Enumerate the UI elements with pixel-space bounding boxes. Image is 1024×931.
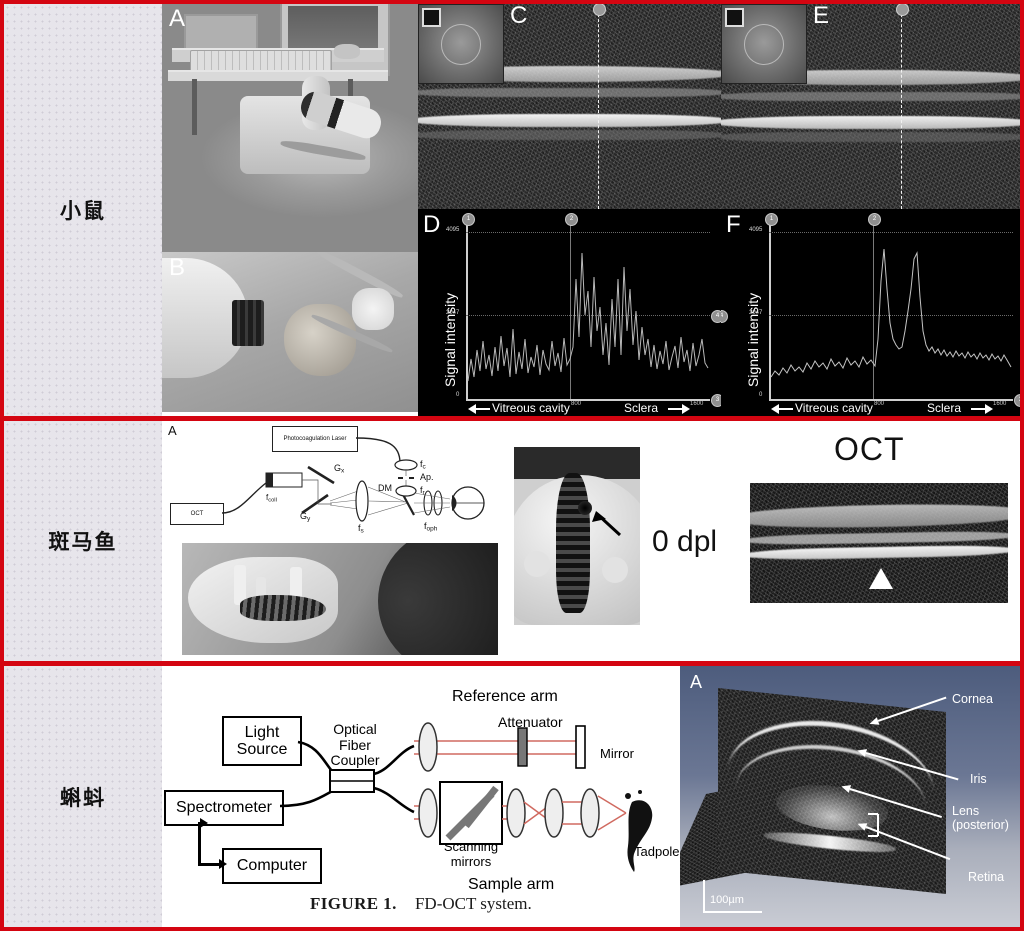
ascan-xtick-f-800: 800 xyxy=(874,401,884,407)
label-fr-sub: r xyxy=(423,490,425,497)
label-gy-sub: y xyxy=(307,516,310,523)
panel-label-d: D xyxy=(423,211,440,239)
optic-disc-ring xyxy=(441,24,482,65)
label-gy: Gy xyxy=(300,511,310,523)
label-fc-sub: c xyxy=(423,464,426,471)
panel-a-tadpole-3d-oct-volume: A xyxy=(680,666,1020,927)
mouse-device xyxy=(334,44,360,59)
annotation-lens: Lens (posterior) xyxy=(952,804,1010,833)
row-label-zebrafish: 斑马鱼 xyxy=(4,421,162,661)
ascan-nub-d-4[interactable]: 4 xyxy=(711,310,721,323)
ascan-ylabel-f: Signal intensity xyxy=(745,293,761,387)
retina-inner-band xyxy=(418,88,721,97)
row-divider-1 xyxy=(4,416,1020,421)
row-label-zebrafish-text: 斑马鱼 xyxy=(49,526,118,556)
label-foph-sub: oph xyxy=(427,526,438,533)
panel-a-zebrafish-optical-schematic: A Photocoagulation Laser OCT xyxy=(162,421,507,539)
zebrafish-body-top xyxy=(556,473,590,613)
ascan-nub-d-2[interactable]: 2 xyxy=(565,213,578,226)
row-tadpole-content: Light Source Spectrometer Computer Optic… xyxy=(162,666,1020,927)
fundus-thumbnail-e xyxy=(721,4,807,84)
row-mouse: 小鼠 A xyxy=(4,4,1020,416)
panel-label-tadpole-a: A xyxy=(690,672,702,693)
row-label-mouse: 小鼠 xyxy=(4,4,162,416)
objective-aperture xyxy=(232,300,264,346)
fundus-marker-square-e xyxy=(725,8,744,27)
oct-title-zebrafish: OCT xyxy=(834,431,905,468)
scan-line-e xyxy=(901,4,902,209)
holder-bump-left xyxy=(524,551,550,577)
scale-bar-text: 100µm xyxy=(710,894,744,906)
annotation-cornea: Cornea xyxy=(952,692,993,706)
ascan-vitreous-arrow-d xyxy=(476,408,490,410)
row-zebrafish: 斑马鱼 A Photocoagulation Laser OCT xyxy=(4,421,1020,661)
holder-bump-right xyxy=(602,557,628,583)
figure-caption-text: FD-OCT system. xyxy=(415,894,532,913)
label-fc: fc xyxy=(420,459,426,471)
zebrafish-specimen xyxy=(240,595,326,621)
label-gx-sub: x xyxy=(341,468,344,475)
ascan-xtick-d-800: 800 xyxy=(571,401,581,407)
ascan-xlabel-sclera-f: Sclera xyxy=(927,401,961,415)
retina-inner-band-e xyxy=(721,92,1020,101)
dark-background-cylinder xyxy=(378,543,498,655)
panel-label-f: F xyxy=(726,211,741,239)
figure-caption-label: FIGURE 1. xyxy=(310,894,397,913)
ascan-sclera-arrow-d xyxy=(668,408,682,410)
ascan-nub-d-1[interactable]: 1 xyxy=(462,213,475,226)
ascan-vitreous-arrow-f xyxy=(779,408,793,410)
pointer-arrow-zebrafish xyxy=(586,505,624,539)
row-label-mouse-text: 小鼠 xyxy=(60,195,106,225)
mouse-body xyxy=(284,304,356,376)
zebrafish-oct-bscan xyxy=(750,483,1008,603)
ascan-xtick-d-1600: 1600 xyxy=(690,401,703,407)
fundus-thumbnail-c xyxy=(418,4,504,84)
retina-bracket-marker xyxy=(866,812,882,838)
ascan-sclera-arrow-f xyxy=(971,408,985,410)
ascan-trace-f xyxy=(769,219,1013,400)
ascan-trace-d xyxy=(466,219,710,400)
label-dm: DM xyxy=(378,483,392,493)
row-label-tadpole: 蝌蚪 xyxy=(4,666,162,927)
label-fs: fs xyxy=(358,523,364,535)
control-box xyxy=(184,14,258,52)
desk-top xyxy=(168,70,388,81)
panel-b-mouse-on-stage-photo: B xyxy=(162,252,418,412)
annotation-retina: Retina xyxy=(968,870,1004,884)
ascan-xtick-f-1600: 1600 xyxy=(993,401,1006,407)
label-gy-base: G xyxy=(300,511,307,521)
ascan-nub-f-1[interactable]: 1 xyxy=(765,213,778,226)
label-fr: fr xyxy=(420,485,425,497)
ascan-nub-f-3[interactable]: 3 xyxy=(1014,394,1020,407)
panel-a-mouse-instrument-photo: A xyxy=(162,4,418,252)
ascan-nub-f-2[interactable]: 2 xyxy=(868,213,881,226)
panel-e-oct-bscan: E xyxy=(721,4,1020,209)
desk-leg-left xyxy=(192,79,197,135)
zebrafish-lesion-arrowhead xyxy=(868,567,894,591)
retina-rpe-band-e xyxy=(721,116,1020,129)
panel-b-zebrafish-holder-photo: B xyxy=(182,543,498,655)
label-foph: foph xyxy=(424,521,437,533)
ascan-xlabel-vitreous-f: Vitreous cavity xyxy=(795,401,873,415)
label-gx: Gx xyxy=(334,463,344,475)
timepoint-label-0dpl: 0 dpl xyxy=(652,525,717,559)
panel-c-zebrafish-closeup-photo: C xyxy=(514,447,640,625)
figure-caption: FIGURE 1. FD-OCT system. xyxy=(310,894,532,914)
ascan-nub-d-3[interactable]: 3 xyxy=(711,394,721,407)
label-ap: Ap. xyxy=(420,472,434,482)
fdoct-system-schematic: Light Source Spectrometer Computer Optic… xyxy=(162,666,680,927)
retina-rpe-band xyxy=(418,114,721,127)
ascan-nub-f-4[interactable]: 4 xyxy=(721,310,728,323)
label-fs-sub: s xyxy=(361,528,364,535)
schematic-optics xyxy=(162,421,507,539)
optic-disc-ring-e xyxy=(744,24,785,65)
row-mouse-content: A B xyxy=(162,4,1020,416)
label-f-coll: fcoll xyxy=(266,493,277,503)
scan-line-c xyxy=(598,4,599,209)
choroid-band-e xyxy=(721,132,1020,142)
panel-f-ascan-graph: F Signal intensity 4095 2047 0 1 2 3 4 xyxy=(721,209,1020,416)
ascan-ylabel-d: Signal intensity xyxy=(442,293,458,387)
panel-label-a: A xyxy=(169,5,185,33)
oct-slice-vertical xyxy=(718,688,946,894)
gauze-pad xyxy=(352,288,394,330)
panel-c-oct-bscan: C xyxy=(418,4,721,209)
label-f-coll-sub: coll xyxy=(268,497,277,503)
row-label-tadpole-text: 蝌蚪 xyxy=(60,782,106,812)
fundus-marker-square xyxy=(422,8,441,27)
row-tadpole: 蝌蚪 Light Source Spectrometer Computer Op… xyxy=(4,666,1020,927)
ascan-xlabel-vitreous-d: Vitreous cavity xyxy=(492,401,570,415)
panel-d-ascan-graph: D Signal intensity 4095 2047 0 1 2 3 4 xyxy=(418,209,721,416)
row-zebrafish-content: A Photocoagulation Laser OCT xyxy=(162,421,1020,661)
ascan-xlabel-sclera-d: Sclera xyxy=(624,401,658,415)
annotation-iris: Iris xyxy=(970,772,987,786)
figure-root: 小鼠 A xyxy=(0,0,1024,931)
choroid-band xyxy=(418,130,721,140)
fdoct-optics xyxy=(162,666,680,927)
label-gx-base: G xyxy=(334,463,341,473)
row-divider-2 xyxy=(4,661,1020,666)
